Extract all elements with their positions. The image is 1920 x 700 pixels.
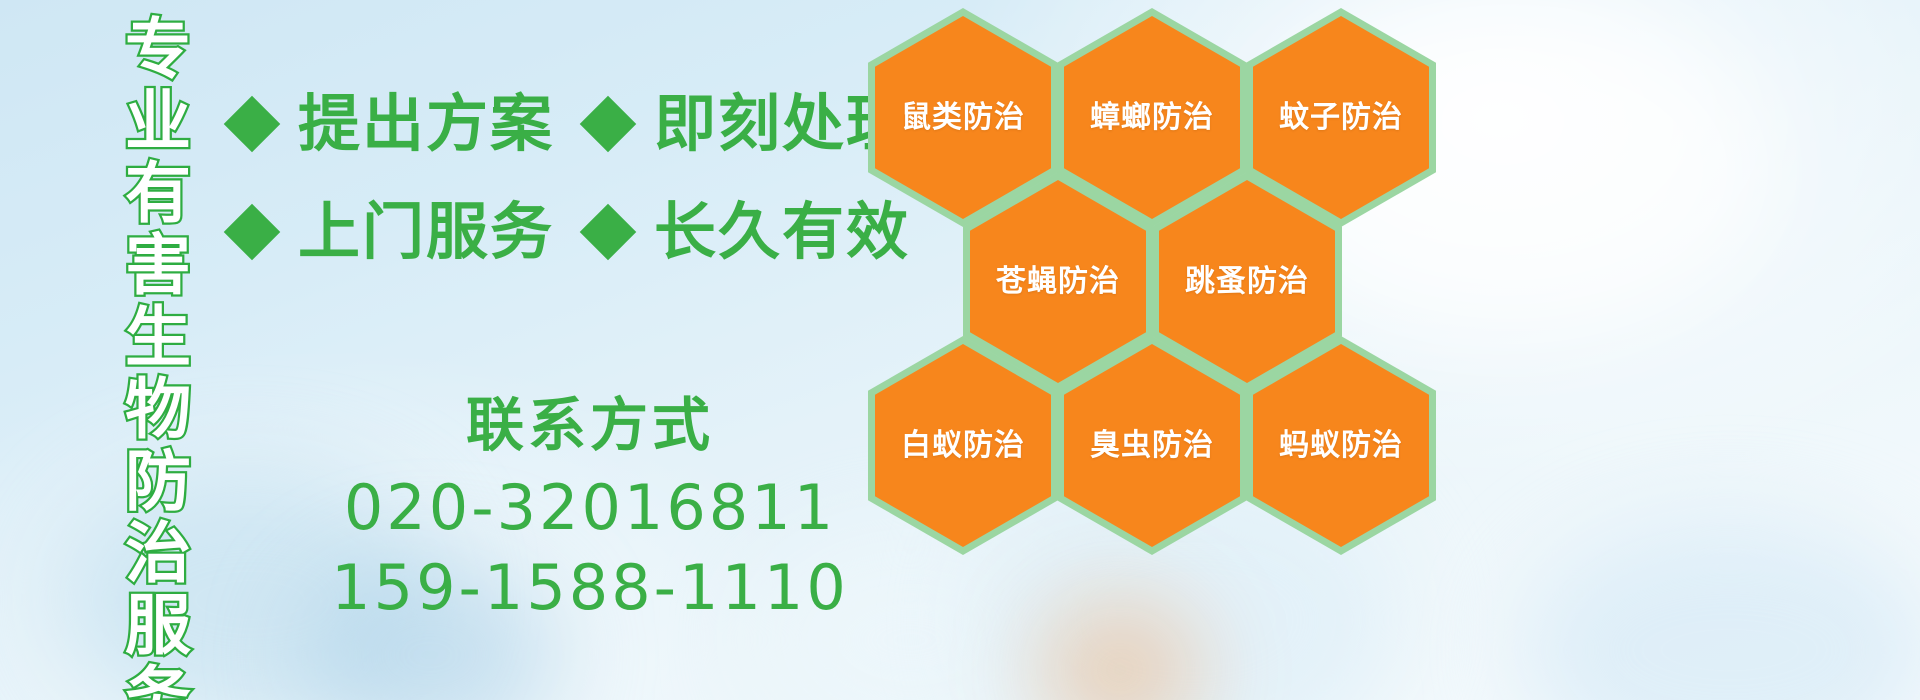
slogan-item-onsite-service: 上门服务	[232, 200, 554, 264]
contact-block: 联系方式 020-32016811 159-1588-1110	[240, 392, 940, 628]
service-hexagon-grid: 鼠类防治 蟑螂防治 蚊子防治 苍蝇防治 跳蚤防治 白蚁防治	[860, 0, 1460, 560]
diamond-icon	[224, 96, 281, 153]
hexagon-inner: 蚊子防治	[1253, 16, 1429, 219]
hexagon-inner: 鼠类防治	[875, 16, 1051, 219]
vertical-headline-char: 专	[125, 14, 191, 86]
service-label: 白蚁防治	[901, 429, 1025, 463]
vertical-headline-char: 服	[125, 590, 191, 662]
slogan-label: 上门服务	[298, 200, 554, 264]
hexagon-inner: 臭虫防治	[1064, 344, 1240, 547]
background-blob-right	[1520, 520, 1920, 700]
hexagon-inner: 蟑螂防治	[1064, 16, 1240, 219]
slogan-item-propose-plan: 提出方案	[232, 92, 554, 156]
vertical-headline-char: 物	[125, 374, 191, 446]
hexagon-inner: 苍蝇防治	[970, 180, 1146, 383]
service-label: 跳蚤防治	[1185, 265, 1309, 299]
slogan-label: 提出方案	[298, 92, 554, 156]
diamond-icon	[580, 96, 637, 153]
diamond-icon	[224, 204, 281, 261]
contact-title: 联系方式	[240, 392, 940, 458]
phone-number-landline[interactable]: 020-32016811	[240, 468, 940, 548]
vertical-headline-char: 生	[125, 302, 191, 374]
vertical-headline: 专 业 有 害 生 物 防 治 服 务	[112, 14, 204, 686]
service-label: 苍蝇防治	[996, 265, 1120, 299]
phone-number-mobile[interactable]: 159-1588-1110	[240, 548, 940, 628]
vertical-headline-char: 有	[125, 158, 191, 230]
vertical-headline-char: 防	[125, 446, 191, 518]
slogan-row-1: 提出方案 即刻处理	[232, 92, 910, 156]
diamond-icon	[580, 204, 637, 261]
hexagon-inner: 白蚁防治	[875, 344, 1051, 547]
pest-control-banner: 专 业 有 害 生 物 防 治 服 务 提出方案 即刻处理 上门服务 长久有效	[0, 0, 1920, 700]
vertical-headline-char: 害	[125, 230, 191, 302]
hexagon-inner: 跳蚤防治	[1159, 180, 1335, 383]
slogan-row-2: 上门服务 长久有效	[232, 200, 910, 264]
service-label: 臭虫防治	[1090, 429, 1214, 463]
service-label: 蚂蚁防治	[1279, 429, 1403, 463]
service-label: 蚊子防治	[1279, 101, 1403, 135]
service-label: 蟑螂防治	[1090, 101, 1214, 135]
vertical-headline-char: 业	[125, 86, 191, 158]
service-label: 鼠类防治	[901, 101, 1025, 135]
background-blob-orange	[1040, 600, 1200, 700]
hexagon-inner: 蚂蚁防治	[1253, 344, 1429, 547]
vertical-headline-char: 务	[125, 662, 191, 700]
vertical-headline-char: 治	[125, 518, 191, 590]
